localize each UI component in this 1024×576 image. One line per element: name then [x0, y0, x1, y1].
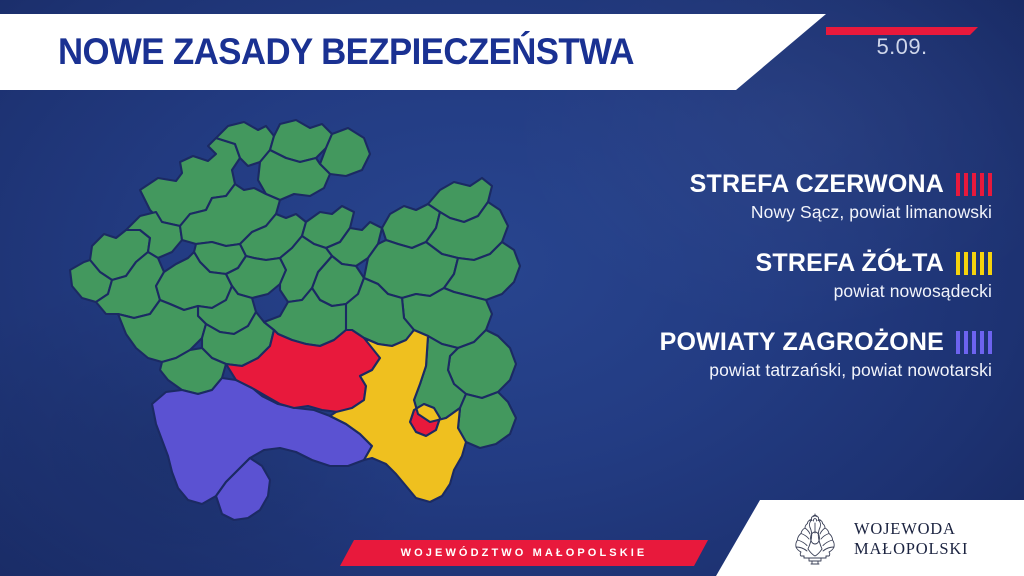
legend-item-red[interactable]: STREFA CZERWONA Nowy Sącz, powiat limano… — [560, 170, 992, 223]
five-bars-icon-red — [956, 173, 992, 197]
polish-eagle-emblem-icon — [790, 511, 840, 567]
wojewoda-logo[interactable]: WOJEWODA MAŁOPOLSKI — [790, 508, 1020, 570]
logo-line-1: WOJEWODA — [854, 519, 968, 539]
page-title: NOWE ZASADY BEZPIECZEŃSTWA — [58, 26, 716, 78]
legend-head-yellow: STREFA ŻÓŁTA — [560, 249, 992, 278]
footer-banner-label: WOJEWÓDZTWO MAŁOPOLSKIE — [340, 540, 708, 566]
legend-subtitle-red: Nowy Sącz, powiat limanowski — [560, 202, 992, 223]
infographic-slide: NOWE ZASADY BEZPIECZEŃSTWA 5.09. — [0, 0, 1024, 576]
five-bars-icon-violet — [956, 331, 992, 355]
legend-item-violet[interactable]: POWIATY ZAGROŻONE powiat tatrzański, pow… — [560, 328, 992, 381]
logo-text-block: WOJEWODA MAŁOPOLSKI — [854, 519, 968, 559]
district-green-se[interactable] — [458, 392, 516, 448]
legend-subtitle-violet: powiat tatrzański, powiat nowotarski — [560, 360, 992, 381]
legend-item-yellow[interactable]: STREFA ŻÓŁTA powiat nowosądecki — [560, 249, 992, 302]
legend-head-red: STREFA CZERWONA — [560, 170, 992, 199]
header-date: 5.09. — [826, 34, 978, 60]
malopolskie-map[interactable] — [30, 118, 550, 528]
logo-line-2: MAŁOPOLSKI — [854, 539, 968, 559]
legend-title-yellow: STREFA ŻÓŁTA — [756, 249, 945, 278]
legend-head-violet: POWIATY ZAGROŻONE — [560, 328, 992, 357]
legend-title-red: STREFA CZERWONA — [690, 170, 944, 199]
legend-subtitle-yellow: powiat nowosądecki — [560, 281, 992, 302]
five-bars-icon-yellow — [956, 252, 992, 276]
legend-title-violet: POWIATY ZAGROŻONE — [660, 328, 944, 357]
zone-legend: STREFA CZERWONA Nowy Sącz, powiat limano… — [560, 170, 992, 407]
